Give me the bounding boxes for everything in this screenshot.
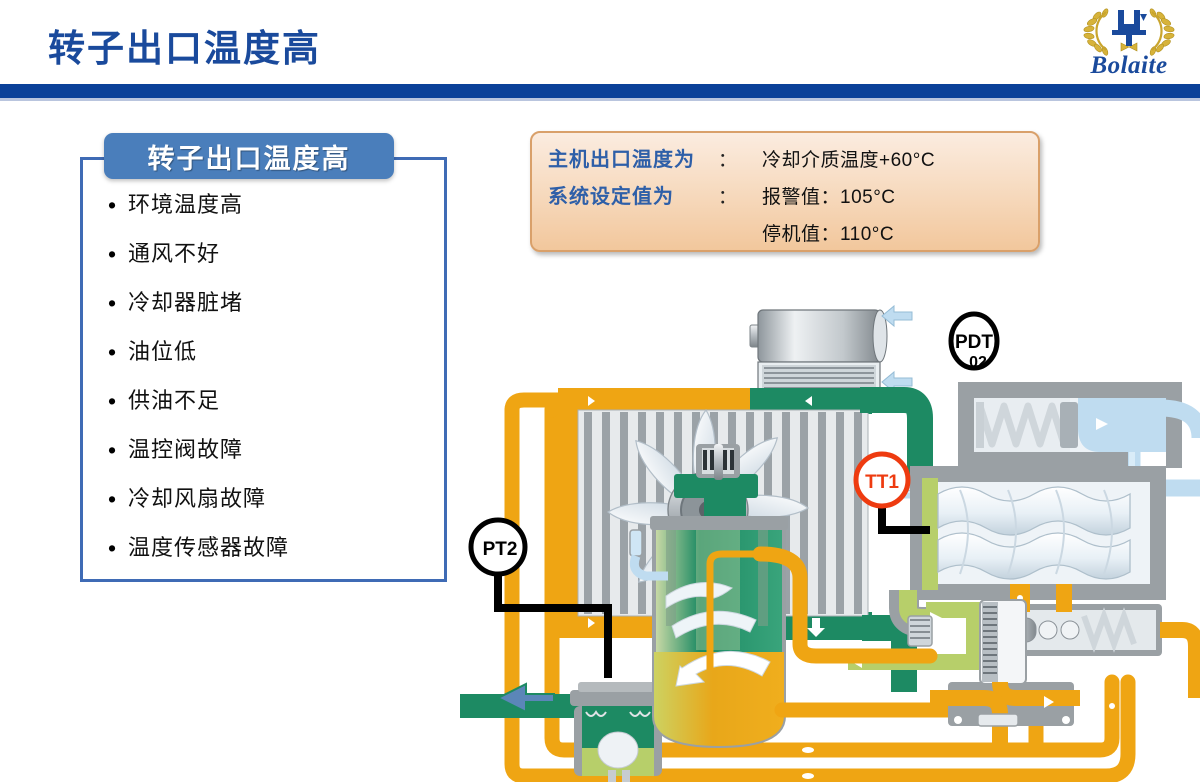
intake-valve bbox=[958, 382, 1200, 468]
list-item-label: 通风不好 bbox=[128, 237, 220, 271]
logo-wordmark: Bolaite bbox=[1068, 52, 1190, 80]
list-item: • 通风不好 bbox=[108, 237, 438, 286]
list-item-label: 温度传感器故障 bbox=[128, 531, 289, 565]
bullet-dot-icon: • bbox=[108, 531, 128, 565]
list-item-label: 油位低 bbox=[128, 335, 197, 369]
info-label: 主机出口温度为 bbox=[548, 143, 718, 172]
setpoint-info-box: 主机出口温度为 ： 冷却介质温度+60°C 系统设定值为 ： 报警值：105°C… bbox=[530, 131, 1040, 252]
info-value: 停机值：110°C bbox=[762, 219, 894, 246]
info-row: 系统设定值为 ： 停机值：110°C bbox=[532, 217, 1038, 254]
bullet-dot-icon: • bbox=[108, 335, 128, 369]
bullet-dot-icon: • bbox=[108, 433, 128, 467]
bullet-dot-icon: • bbox=[108, 384, 128, 418]
info-colon: ： bbox=[718, 182, 762, 209]
info-row: 系统设定值为 ： 报警值：105°C bbox=[532, 180, 1038, 217]
info-value: 冷却介质温度+60°C bbox=[762, 145, 935, 172]
list-item: • 环境温度高 bbox=[108, 188, 438, 237]
panel-banner: 转子出口温度高 bbox=[104, 133, 394, 179]
bullet-dot-icon: • bbox=[108, 188, 128, 222]
list-item: • 冷却风扇故障 bbox=[108, 482, 438, 531]
compressor-schematic: PDT 02 TT1 PT2 bbox=[460, 278, 1200, 782]
list-item-label: 冷却器脏堵 bbox=[128, 286, 243, 320]
bullet-dot-icon: • bbox=[108, 237, 128, 271]
list-item: • 冷却器脏堵 bbox=[108, 286, 438, 335]
info-row: 主机出口温度为 ： 冷却介质温度+60°C bbox=[532, 143, 1038, 180]
bullet-dot-icon: • bbox=[108, 482, 128, 516]
info-colon: ： bbox=[718, 145, 762, 172]
page-header: 转子出口温度高 bbox=[0, 0, 1200, 104]
list-item: • 供油不足 bbox=[108, 384, 438, 433]
tag-pdt[interactable]: PDT 02 bbox=[951, 314, 997, 371]
bullet-dot-icon: • bbox=[108, 286, 128, 320]
list-item-label: 供油不足 bbox=[128, 384, 220, 418]
info-label: 系统设定值为 bbox=[548, 180, 718, 209]
screw-compressor-element bbox=[910, 466, 1166, 600]
header-rule bbox=[0, 84, 1200, 98]
tag-sub-pdt: 02 bbox=[969, 354, 987, 371]
list-item: • 油位低 bbox=[108, 335, 438, 384]
list-item: • 温度传感器故障 bbox=[108, 531, 438, 580]
cause-bullet-list: • 环境温度高 • 通风不好 • 冷却器脏堵 • 油位低 • 供油不足 • 温控… bbox=[108, 188, 438, 580]
laurel-wreath-emblem-icon bbox=[1068, 4, 1190, 56]
panel-banner-label: 转子出口温度高 bbox=[148, 137, 351, 176]
list-item-label: 温控阀故障 bbox=[128, 433, 243, 467]
tag-label-pdt: PDT bbox=[955, 332, 993, 353]
header-rule-shadow bbox=[0, 98, 1200, 101]
tag-label-tt1: TT1 bbox=[865, 472, 899, 493]
info-value: 报警值：105°C bbox=[762, 182, 896, 209]
tag-label-pt2: PT2 bbox=[483, 539, 518, 560]
list-item: • 温控阀故障 bbox=[108, 433, 438, 482]
list-item-label: 冷却风扇故障 bbox=[128, 482, 266, 516]
page-title: 转子出口温度高 bbox=[48, 18, 321, 72]
list-item-label: 环境温度高 bbox=[128, 188, 243, 222]
brand-logo: Bolaite bbox=[1068, 4, 1190, 82]
